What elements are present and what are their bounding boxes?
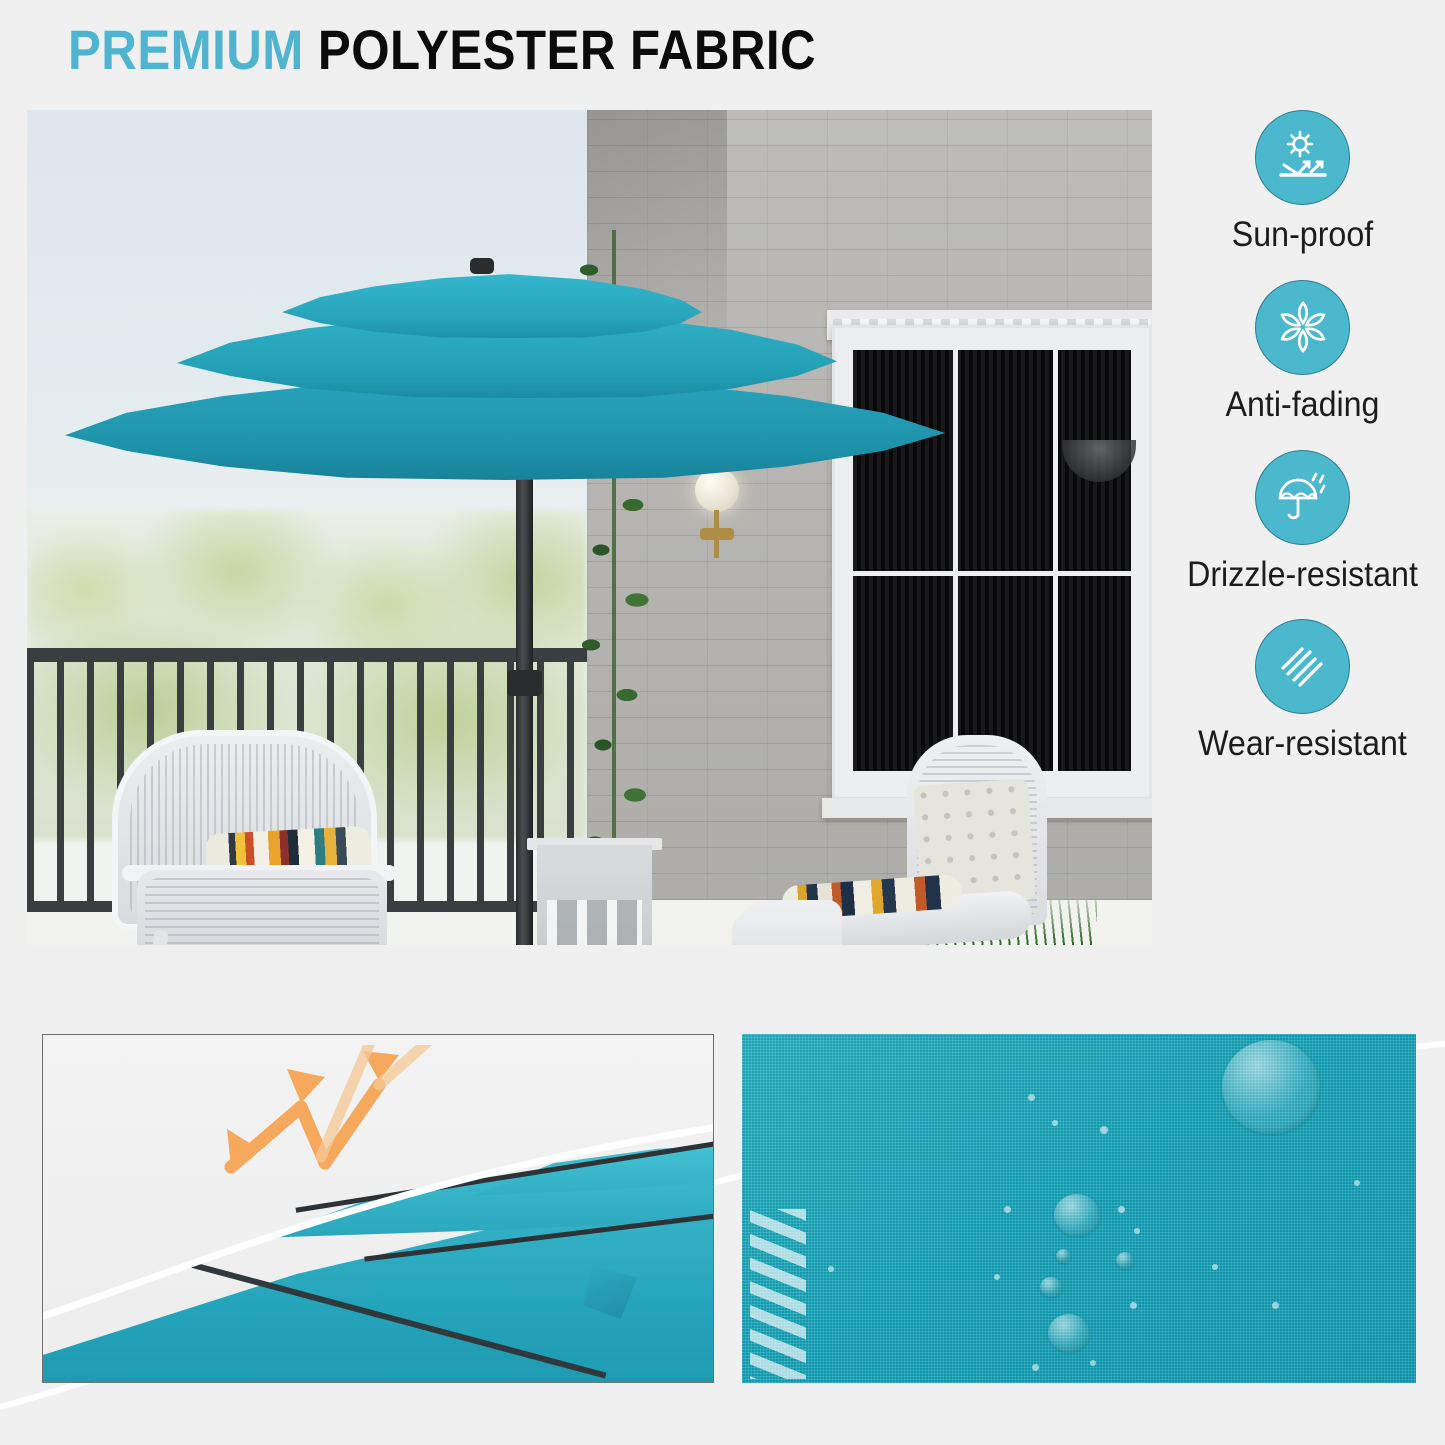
header-banner: PREMIUM POLYESTER FABRIC [0,0,1445,100]
feature-item-wear-resistant: Wear-resistant [1160,619,1445,763]
water-droplet-medium [1054,1194,1100,1236]
sconce-backplate [700,528,734,540]
feature-list: Sun-proof Anti-fading [1160,110,1445,789]
uv-reflection-panel [42,1034,714,1383]
title-highlight: PREMIUM [68,18,304,81]
water-droplet-medium [1048,1314,1090,1352]
feature-label: Drizzle-resistant [1171,557,1433,594]
umbrella-finial [470,258,494,274]
water-microdroplet [994,1274,1000,1280]
fabric-seam [750,1209,806,1379]
water-microdroplet [1130,1302,1137,1309]
globe-sconce-icon [695,468,739,512]
water-droplet-small [1116,1252,1134,1269]
water-droplet-small [1040,1277,1062,1297]
hero-lifestyle-photo [27,110,1152,945]
water-microdroplet [1134,1228,1140,1234]
feature-item-anti-fading: Anti-fading [1160,280,1445,424]
window-mullion-vertical-left [953,350,958,771]
window-mullion-horizontal [853,571,1131,576]
water-repellent-panel [742,1034,1416,1383]
water-microdroplet [1118,1206,1125,1213]
feature-item-sun-proof: Sun-proof [1160,110,1445,254]
feature-item-drizzle-resistant: Drizzle-resistant [1160,450,1445,594]
water-microdroplet [1212,1264,1218,1270]
water-microdroplet [1354,1180,1360,1186]
page-title: PREMIUM POLYESTER FABRIC [68,22,816,78]
feature-label: Sun-proof [1171,217,1433,254]
water-microdroplet [1090,1360,1096,1366]
side-table-cutouts [547,900,642,945]
uv-ray-arrows [193,1045,513,1275]
title-rest: POLYESTER FABRIC [318,18,816,81]
feature-label: Wear-resistant [1171,726,1433,763]
water-microdroplet [1100,1126,1108,1134]
umbrella-rain-icon [1255,450,1350,545]
window-frame [832,325,1152,800]
sun-reflect-icon [1255,110,1350,205]
water-microdroplet [1272,1302,1279,1309]
wicker-chair-left-seat [137,870,387,945]
umbrella-crank-hub [507,670,542,696]
wicker-chair-right-ottoman [732,900,842,945]
water-microdroplet [1028,1094,1035,1101]
water-droplet-large [1222,1040,1320,1134]
water-microdroplet [1032,1364,1039,1371]
infographic-stage: PREMIUM POLYESTER FABRIC [0,0,1445,1445]
feature-label: Anti-fading [1171,387,1433,424]
abrasion-lines-icon [1255,619,1350,714]
water-droplet-small [1056,1249,1071,1263]
railing-top-bar [27,648,587,662]
flower-petals-icon [1255,280,1350,375]
water-microdroplet [828,1266,834,1272]
water-microdroplet [1004,1206,1011,1213]
window-mullion-vertical-right [1053,350,1058,771]
window-glass [853,350,1131,771]
water-microdroplet [1052,1120,1058,1126]
